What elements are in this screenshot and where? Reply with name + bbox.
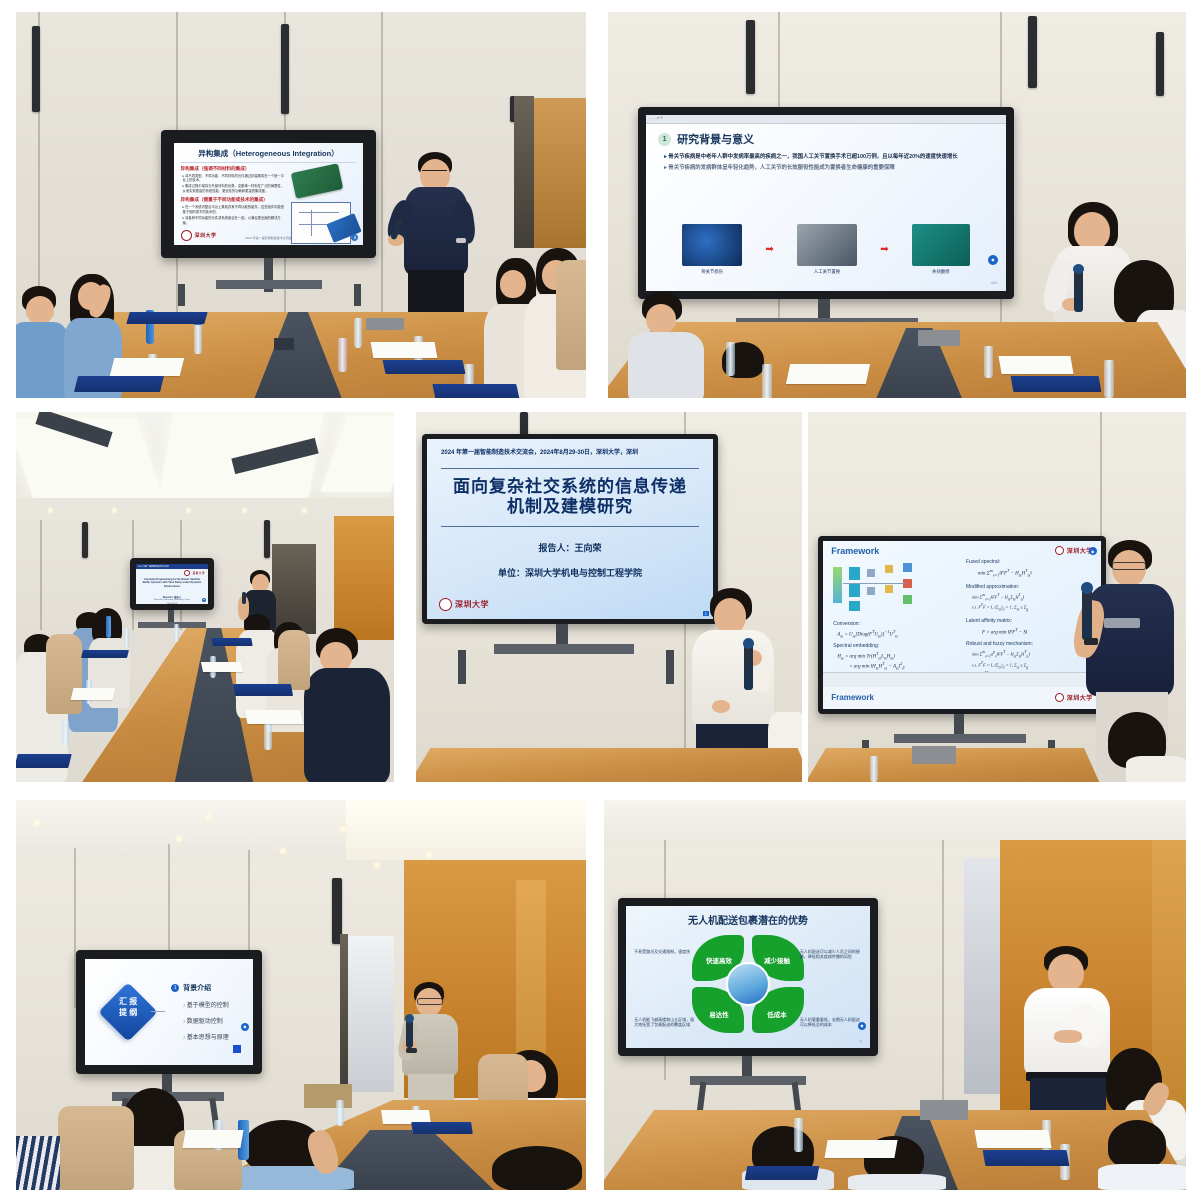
- slide-section-label: Spectral embedding:: [833, 643, 879, 649]
- slide-title: 异构集成（Heterogeneous Integration）: [181, 148, 357, 159]
- ceiling-cove: [346, 800, 586, 860]
- chair: [278, 630, 310, 690]
- divider: [441, 468, 699, 469]
- downlight: [186, 508, 191, 513]
- slide-page-number: 7: [860, 1039, 862, 1044]
- water-bottle: [726, 342, 735, 376]
- app-toolbar[interactable]: ← → ⟳ ☰: [646, 115, 1006, 124]
- handout: [824, 1140, 897, 1158]
- slide-bullet: 在一个系统内整合平台上集成具有不同功能的组件，这些组件可能是基于相同或不同技术的…: [183, 205, 286, 214]
- torso: [848, 1174, 946, 1190]
- petal-label: 快速高效: [696, 955, 742, 965]
- outline-item-label: 基于模型的控制: [187, 1003, 229, 1009]
- slide-bullet: 骨关节疾病的发病群体呈年轻化趋势，人工关节的长效服役性能成为置换者生命健康的重要…: [664, 165, 994, 172]
- whiteboard-screen: ← → ⟳ ☰ 1 研究背景与意义 骨关节疾病是中老年人群中发病率最高的疾病之一…: [646, 115, 1006, 291]
- network-diagram: [833, 561, 927, 613]
- wall-speaker: [32, 26, 40, 112]
- laptop: [912, 746, 956, 764]
- interactive-whiteboard[interactable]: 汇 报 提 纲 1 背景介绍 › 基于模型的控制 › 数据驱动控制: [76, 950, 262, 1074]
- water-bottle: [194, 324, 202, 354]
- hand-left: [712, 700, 730, 713]
- slide-thumbnail-strip[interactable]: [823, 672, 1100, 687]
- laptop: [304, 1084, 352, 1108]
- handout: [71, 688, 116, 700]
- photo-3: 2024 年第一届智能制造技术交流会 深圳大学 Anomaly Programm…: [16, 412, 394, 782]
- photo-6: 汇 报 提 纲 1 背景介绍 › 基于模型的控制 › 数据驱动控制: [16, 800, 586, 1190]
- slide-section-label: Conversion:: [833, 621, 860, 627]
- slide-bullet: 将各种不同功能的元件或系统组合在一起，以满足更全面的解决方案。: [183, 216, 286, 225]
- handout: [245, 710, 304, 724]
- photo-4: 2024 年第一届智能制造技术交流会，2024年8月29-30日，深圳大学，深圳…: [416, 412, 802, 782]
- audience-member: [304, 628, 392, 782]
- laptop: [918, 330, 960, 346]
- interactive-whiteboard[interactable]: 异构集成（Heterogeneous Integration） 异构集成（强调不…: [161, 130, 376, 258]
- figure-label: 失效翻修: [912, 269, 970, 275]
- wood-cabinet: [532, 98, 586, 248]
- water-bottle: [62, 720, 69, 746]
- slide-page-number: 4/21: [991, 281, 998, 285]
- head: [1074, 212, 1110, 250]
- petal-label: 易达性: [696, 1009, 742, 1019]
- diamond-line-2: 提 纲: [107, 1008, 149, 1019]
- reporter-label: 报告人：: [538, 543, 574, 553]
- figure-label: 骨关节损伤: [682, 269, 742, 275]
- szu-seal-icon: [439, 598, 452, 611]
- slide-bullet: 集成过程中保持与外部材料的优势，克服单一材料在广泛的局限性，从而实现更高的系统性…: [183, 184, 286, 193]
- slide-heterogeneous-integration: 异构集成（Heterogeneous Integration） 异构集成（强调不…: [174, 143, 364, 246]
- divider: [181, 162, 357, 163]
- microphone[interactable]: [1074, 268, 1083, 312]
- carpet: [16, 1136, 60, 1190]
- handout: [110, 358, 184, 376]
- formula: = arg min ‖HtsHTts − Ats‖2F: [849, 661, 905, 671]
- glasses-icon: [422, 170, 447, 175]
- glasses-icon: [1112, 562, 1146, 570]
- conference-folder: [211, 638, 252, 646]
- doorway-shadow: [514, 96, 534, 248]
- szu-seal-icon: [181, 230, 192, 241]
- whiteboard-screen: 异构集成（Heterogeneous Integration） 异构集成（强调不…: [174, 143, 364, 246]
- formula: s.t. FTF = I, (Σts)ii = 1, Σts ≤ Σg: [972, 661, 1093, 669]
- conference-folder: [81, 650, 129, 658]
- water-bottle: [124, 628, 129, 648]
- slide-page-badge: ◈: [988, 255, 998, 265]
- petal-diagram: 快速高效 减少接触 易达性 低成本: [688, 935, 808, 1033]
- slide-figure: [682, 224, 742, 266]
- slide-header: 2024 年第一届智能制造技术交流会，2024年8月29-30日，深圳大学，深圳: [441, 447, 699, 456]
- microphone[interactable]: [242, 592, 246, 604]
- water-bottle: [264, 722, 272, 750]
- water-bottle: [174, 624, 179, 642]
- whiteboard-screen: Framework 深圳大学: [823, 541, 1100, 708]
- slide-footer-org: 深圳大学: [455, 599, 489, 610]
- photo-2: ← → ⟳ ☰ 1 研究背景与意义 骨关节疾病是中老年人群中发病率最高的疾病之一…: [608, 12, 1186, 398]
- display-stand-foot: [458, 650, 466, 684]
- wall-panel-seam: [40, 520, 42, 630]
- interactive-whiteboard[interactable]: 2024 年第一届智能制造技术交流会 深圳大学 Anomaly Programm…: [130, 558, 214, 610]
- center-drone-image: [726, 962, 770, 1006]
- trousers: [408, 270, 464, 314]
- display-stand-shelf: [138, 622, 206, 628]
- interactive-whiteboard[interactable]: 2024 年第一届智能制造技术交流会，2024年8月29-30日，深圳大学，深圳…: [422, 434, 718, 624]
- slide-header-org: 深圳大学: [193, 571, 205, 575]
- slide-note: 无人机配送可以减少人员之间的接触，降低相关疾病传播的风险: [800, 949, 862, 959]
- formula: s.t. FTF = I, (Σts)ii = 1, Σts ≤ Σg: [972, 603, 1093, 611]
- presenter: [388, 152, 488, 312]
- handout: [974, 1130, 1051, 1148]
- display-stand-shelf: [894, 734, 1026, 743]
- slide-section-label: Latent affinity matrix:: [966, 618, 1093, 624]
- slide-note: 不易受路况及交通限制，速度快: [634, 949, 694, 954]
- photo-7: 无人机配送包裹潜在的优势 快速高效 减少接触 易达性 低成本: [604, 800, 1186, 1190]
- slide-page-badge: ◈: [241, 1023, 249, 1031]
- slide-main-title: 面向复杂社交系统的信息传递 机制及建模研究: [441, 477, 699, 517]
- slide-note: 无人机载重量低，长期无人机配送可以降低总的成本: [800, 1017, 862, 1027]
- conference-folder: [1011, 376, 1102, 392]
- conference-folder: [745, 1166, 819, 1180]
- conference-folder: [383, 360, 466, 374]
- torso: [1098, 1164, 1186, 1190]
- wall-speaker: [1156, 32, 1164, 96]
- handout: [786, 364, 870, 384]
- slide-title-line-1: 面向复杂社交系统的信息传递: [441, 477, 699, 497]
- downlight: [242, 508, 247, 513]
- szu-seal-icon: [184, 570, 190, 576]
- slide-decor-square: [233, 1045, 241, 1053]
- formula: Ats = Uts[Diag(FTUts)]−1UTts: [837, 629, 898, 639]
- chair: [46, 634, 82, 714]
- figure-label: 人工关节置换: [797, 269, 857, 275]
- slide-outline: 汇 报 提 纲 1 背景介绍 › 基于模型的控制 › 数据驱动控制: [85, 959, 253, 1065]
- wall-speaker: [281, 24, 289, 114]
- interactive-whiteboard[interactable]: 无人机配送包裹潜在的优势 快速高效 减少接触 易达性 低成本: [618, 898, 878, 1056]
- slide-section-label: Fused spectral:: [966, 559, 1093, 565]
- audience-member: [1108, 712, 1186, 782]
- conference-folder: [126, 312, 207, 324]
- wall-speaker: [82, 522, 88, 558]
- slide-footer-logo: 深圳大学: [439, 598, 489, 611]
- slide-figure: [797, 224, 857, 266]
- slide-footer-note: 2024 年第一届智能制造技术交流会: [245, 236, 292, 240]
- diamond-line-1: 汇 报: [107, 997, 149, 1008]
- whiteboard-screen: 汇 报 提 纲 1 背景介绍 › 基于模型的控制 › 数据驱动控制: [85, 959, 253, 1065]
- head: [1048, 954, 1084, 992]
- conference-folder: [16, 754, 72, 768]
- downlight: [112, 508, 117, 513]
- microphone-head: [1073, 264, 1084, 274]
- chip-diagram: [291, 163, 343, 198]
- handout: [371, 342, 438, 358]
- wristwatch: [1084, 638, 1098, 645]
- slide-banner: 2024 年第一届智能制造技术交流会: [136, 564, 208, 569]
- interactive-whiteboard[interactable]: Framework 深圳大学: [818, 536, 1106, 714]
- whiteboard-screen: 2024 年第一届智能制造技术交流会 深圳大学 Anomaly Programm…: [136, 564, 208, 604]
- downlight: [426, 852, 432, 858]
- downlight: [374, 862, 380, 868]
- slide-figure: [912, 224, 970, 266]
- formula: Hts = arg min Tr(HTtsLtsHts): [837, 651, 895, 661]
- circuit-trace: [299, 212, 339, 213]
- audience-member: [492, 1146, 586, 1190]
- slide-unit: 单位：深圳大学机电与控制工程学院: [441, 566, 699, 579]
- laptop: [366, 318, 404, 330]
- unit-label: 单位：: [498, 568, 525, 578]
- slide-date: 2024.08.29: [136, 603, 208, 604]
- formula: min Σmv=1‖FFT − HtsΣtsHTts‖: [972, 593, 1093, 601]
- slide-section-2: 异构集成（侧重于不同功能或技术的集成）: [181, 197, 286, 203]
- slide-bullet: 将不同类型、不同功能、不同材料的元件通过封装集成在一个统一平台上的技术。: [183, 174, 286, 183]
- slide-page-badge: ◈: [202, 598, 206, 602]
- display-stand-foot: [178, 284, 185, 306]
- slide-title: Framework: [831, 546, 879, 556]
- formula: min Σmv=1‖FFT − HtsHTts‖: [978, 568, 1093, 578]
- outline-item-label: 基本思想与原理: [187, 1035, 229, 1041]
- display-stand-shelf: [216, 280, 322, 289]
- conference-folder: [411, 1122, 473, 1134]
- reporter-name: 王向荣: [575, 543, 602, 553]
- water-bottle: [984, 346, 993, 378]
- slide-title: 研究背景与意义: [677, 131, 754, 147]
- door-frame-shadow: [340, 934, 348, 1094]
- footer-title: Framework: [831, 693, 874, 702]
- outline-item-label: 数据驱动控制: [187, 1019, 223, 1025]
- water-bottle: [106, 616, 111, 638]
- conference-folder: [233, 684, 293, 696]
- downlight: [302, 508, 307, 513]
- conference-folder: [983, 1150, 1070, 1166]
- audience-member: [1098, 1120, 1186, 1190]
- hair: [1108, 1120, 1166, 1168]
- outline-connector: [151, 1011, 165, 1012]
- photo-1: 异构集成（Heterogeneous Integration） 异构集成（强调不…: [16, 12, 586, 398]
- head: [646, 304, 676, 334]
- outline-diamond-label: 汇 报 提 纲: [107, 997, 149, 1019]
- handout: [998, 356, 1073, 374]
- display-stand-foot: [666, 650, 674, 684]
- wall-speaker: [746, 20, 755, 94]
- torso: [1126, 756, 1186, 782]
- slide-header-logo: 深圳大学: [184, 570, 205, 576]
- chair: [556, 260, 586, 370]
- outline-item: › 基于模型的控制: [183, 1000, 229, 1009]
- audience-member: [742, 1126, 832, 1190]
- slide-section-badge: 1: [658, 133, 671, 146]
- slide-note: 无人机能飞越高楼和山丘区域，极大地拓宽了包裹配送的覆盖区域: [634, 1017, 694, 1027]
- szu-seal-icon: [1055, 693, 1064, 702]
- wall-speaker: [1028, 16, 1037, 88]
- handout: [182, 1130, 243, 1148]
- wood-wall-panel: [334, 516, 394, 640]
- photo-5: Framework 深圳大学: [808, 412, 1186, 782]
- slide-drone-advantages: 无人机配送包裹潜在的优势 快速高效 减少接触 易达性 低成本: [626, 906, 870, 1048]
- slide-reporter: 报告人：王向荣: [441, 541, 699, 554]
- outline-item: › 数据驱动控制: [183, 1016, 229, 1025]
- handout: [201, 662, 243, 672]
- torso: [304, 668, 390, 782]
- doorway: [964, 858, 1000, 1094]
- slide-section-label: Modified approximation:: [966, 584, 1093, 590]
- conference-table: [416, 748, 802, 782]
- doorway: [346, 936, 394, 1092]
- downlight: [206, 814, 212, 820]
- wristwatch: [406, 1048, 417, 1053]
- outline-bullet-icon: 1: [171, 984, 179, 992]
- divider: [441, 526, 699, 527]
- conference-folder: [74, 376, 164, 392]
- downlight: [280, 848, 286, 854]
- slide-section-1: 异构集成（强调不同材料的集成）: [181, 166, 286, 172]
- outline-heading: 背景介绍: [183, 983, 211, 993]
- wall-speaker: [264, 520, 270, 558]
- microphone-head: [1081, 582, 1093, 594]
- slide-title-page: 2024 年第一届智能制造技术交流会，2024年8月29-30日，深圳大学，深圳…: [427, 439, 713, 619]
- whiteboard-screen: 2024 年第一届智能制造技术交流会，2024年8月29-30日，深圳大学，深圳…: [427, 439, 713, 619]
- downlight: [176, 836, 182, 842]
- microphone-head: [743, 638, 754, 649]
- petal-label: 减少接触: [754, 955, 800, 965]
- downlight: [34, 820, 40, 826]
- water-bottle: [1104, 360, 1114, 398]
- arrow-right-icon: ➡: [880, 244, 888, 255]
- slide-title-line-2: 机制及建模研究: [441, 497, 699, 517]
- szu-seal-icon: [1055, 546, 1064, 555]
- display-stand-shelf: [494, 644, 634, 654]
- wristwatch: [456, 238, 466, 243]
- laptop: [274, 338, 294, 350]
- audience-member: [628, 292, 708, 398]
- head: [500, 270, 526, 298]
- display-stand-shelf: [690, 1076, 806, 1085]
- slide-research-background: 1 研究背景与意义 骨关节疾病是中老年人群中发病率最高的疾病之一，我国人工关节置…: [646, 124, 1006, 291]
- outline-item: › 基本思想与原理: [183, 1032, 229, 1041]
- water-bottle: [794, 1118, 803, 1152]
- downlight: [340, 826, 346, 832]
- shirt-print: [1104, 618, 1140, 628]
- whiteboard-screen: 无人机配送包裹潜在的优势 快速高效 减少接触 易达性 低成本: [626, 906, 870, 1048]
- unit-name: 深圳大学机电与控制工程学院: [525, 568, 642, 578]
- photo-collage: 异构集成（Heterogeneous Integration） 异构集成（强调不…: [0, 0, 1200, 1200]
- microphone[interactable]: [744, 644, 753, 690]
- head: [714, 598, 746, 634]
- slide-bullet: 骨关节疾病是中老年人群中发病率最高的疾病之一，我国人工关节置换手术已超100万例…: [664, 154, 994, 161]
- water-bottle: [762, 364, 772, 398]
- interactive-whiteboard[interactable]: ← → ⟳ ☰ 1 研究背景与意义 骨关节疾病是中老年人群中发病率最高的疾病之一…: [638, 107, 1014, 299]
- slide-footer-bar: Framework 深圳大学: [823, 687, 1100, 709]
- microphone[interactable]: [1082, 588, 1092, 640]
- arrow-right-icon: ➡: [765, 244, 773, 255]
- slide-title: 无人机配送包裹潜在的优势: [634, 912, 862, 927]
- slide-page-badge: 5: [351, 234, 358, 241]
- slide-title-en: Anomaly Programming for Nonlinear Satell…: [142, 578, 202, 588]
- slide-footer-logo: 深圳大学: [181, 230, 217, 241]
- slide-affiliation: Shenzhen University, Shenzhen, China: [136, 599, 208, 601]
- water-bottle: [338, 338, 347, 372]
- petal-label: 低成本: [754, 1009, 800, 1019]
- downlight: [48, 508, 53, 513]
- water-bottle: [354, 318, 362, 348]
- hair: [492, 1146, 582, 1190]
- hand: [1054, 1030, 1082, 1043]
- torso: [628, 332, 704, 398]
- conference-folder: [432, 384, 519, 398]
- display-stand-foot: [354, 284, 361, 306]
- microphone-head: [405, 1014, 414, 1023]
- glasses-icon: [417, 998, 443, 1005]
- slide-page-badge: ◈: [858, 1022, 866, 1030]
- slide-footer-org: 深圳大学: [195, 232, 217, 239]
- chair: [58, 1106, 134, 1190]
- head: [26, 296, 54, 324]
- wall-panel-seam: [942, 840, 944, 1100]
- circuit-trace: [311, 210, 312, 236]
- water-bottle: [870, 756, 878, 782]
- water-bottle: [336, 1100, 344, 1126]
- laptop: [920, 1100, 968, 1120]
